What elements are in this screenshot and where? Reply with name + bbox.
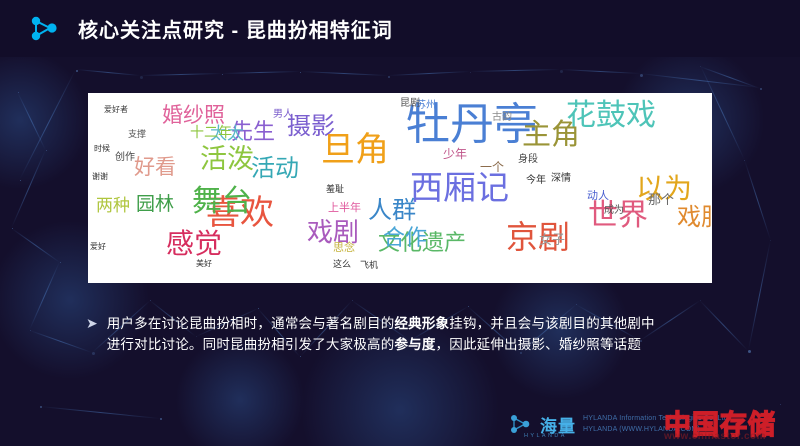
wordcloud-panel: 牡丹亭花鼓戏主角西厢记京剧世界以为戏服喜欢感觉舞台活泼活动好看戏剧人群文化遗产合… — [88, 93, 712, 283]
cloud-word: 上半年 — [328, 203, 361, 214]
cloud-word: 园林 — [136, 195, 174, 214]
cloud-word: 爱好者 — [104, 106, 128, 114]
cloud-word: 昆剧 — [400, 99, 420, 109]
cloud-word: 两种 — [96, 197, 130, 214]
cloud-word: 一个 — [480, 161, 504, 173]
cloud-word: 主角 — [522, 121, 580, 150]
cloud-word: 十二年 — [190, 125, 232, 139]
cloud-word: 身段 — [518, 155, 538, 165]
bullet-line1-emphasis: 经典形象 — [394, 316, 449, 331]
cloud-word: 活泼 — [200, 146, 254, 173]
cloud-word: 成为 — [604, 206, 624, 216]
hylanda-logo-icon — [26, 12, 66, 46]
cloud-word: 思念 — [333, 243, 355, 254]
bullet-paragraph: 用户多在讨论昆曲扮相时，通常会与著名剧目的经典形象挂钩，并且会与该剧目的其他剧中… — [107, 313, 655, 355]
cloud-word: 古韵 — [492, 113, 512, 123]
cloud-word: 爱好 — [90, 243, 106, 251]
bullet-line2-part3: ，因此延伸出摄影、婚纱照等话题 — [436, 337, 642, 352]
cloud-word: 旦角 — [321, 133, 389, 167]
cloud-word: 时候 — [94, 145, 110, 153]
footer-brand-en: HYLANDA — [524, 433, 567, 439]
slide-header: 核心关注点研究 - 昆曲扮相特征词 — [0, 0, 800, 57]
page-title: 核心关注点研究 - 昆曲扮相特征词 — [78, 14, 393, 43]
cloud-word: 今年 — [526, 176, 546, 186]
cloud-word: 动人 — [587, 191, 609, 202]
cloud-word: 人群 — [368, 199, 416, 223]
cloud-word: 谢谢 — [92, 173, 108, 181]
cloud-word: 美好 — [196, 260, 212, 268]
cloud-word: 羞耻 — [326, 185, 344, 194]
cloud-word: 好看 — [134, 157, 176, 178]
bullet-line2-emphasis: 参与度 — [394, 337, 435, 352]
cloud-word: 活动 — [251, 157, 299, 181]
cloud-word: 舞台 — [192, 187, 252, 217]
cloud-word: 这么 — [333, 260, 351, 269]
bullet-line1-part1: 用户多在讨论昆曲扮相时，通常会与著名剧目的 — [107, 316, 395, 331]
cloud-word: 创作 — [115, 153, 135, 163]
cloud-word: 支撑 — [128, 130, 146, 139]
bullet-block: ➤ 用户多在讨论昆曲扮相时，通常会与著名剧目的经典形象挂钩，并且会与该剧目的其他… — [86, 313, 726, 355]
watermark-url: www.chinastor.com — [664, 431, 766, 442]
bullet-line1-part3: 挂钩，并且会与该剧目的其他剧中 — [449, 316, 655, 331]
cloud-word: 深情 — [551, 174, 571, 184]
cloud-word: 合作 — [383, 227, 427, 249]
cloud-word: 婚纱照 — [162, 105, 225, 126]
bullet-line2-part1: 进行对比讨论。同时昆曲扮相引发了大家极高的 — [107, 337, 395, 352]
cloud-word: 西厢记 — [410, 171, 509, 204]
cloud-word: 戏服 — [677, 206, 712, 230]
cloud-word: 男人 — [273, 110, 293, 120]
cloud-word: 那个 — [648, 193, 674, 206]
arrow-bullet-icon: ➤ — [86, 313, 98, 333]
cloud-word: 女子 — [539, 233, 565, 246]
cloud-word: 感觉 — [166, 230, 222, 258]
cloud-word: 少年 — [443, 148, 467, 160]
cloud-word: 飞机 — [360, 261, 378, 270]
